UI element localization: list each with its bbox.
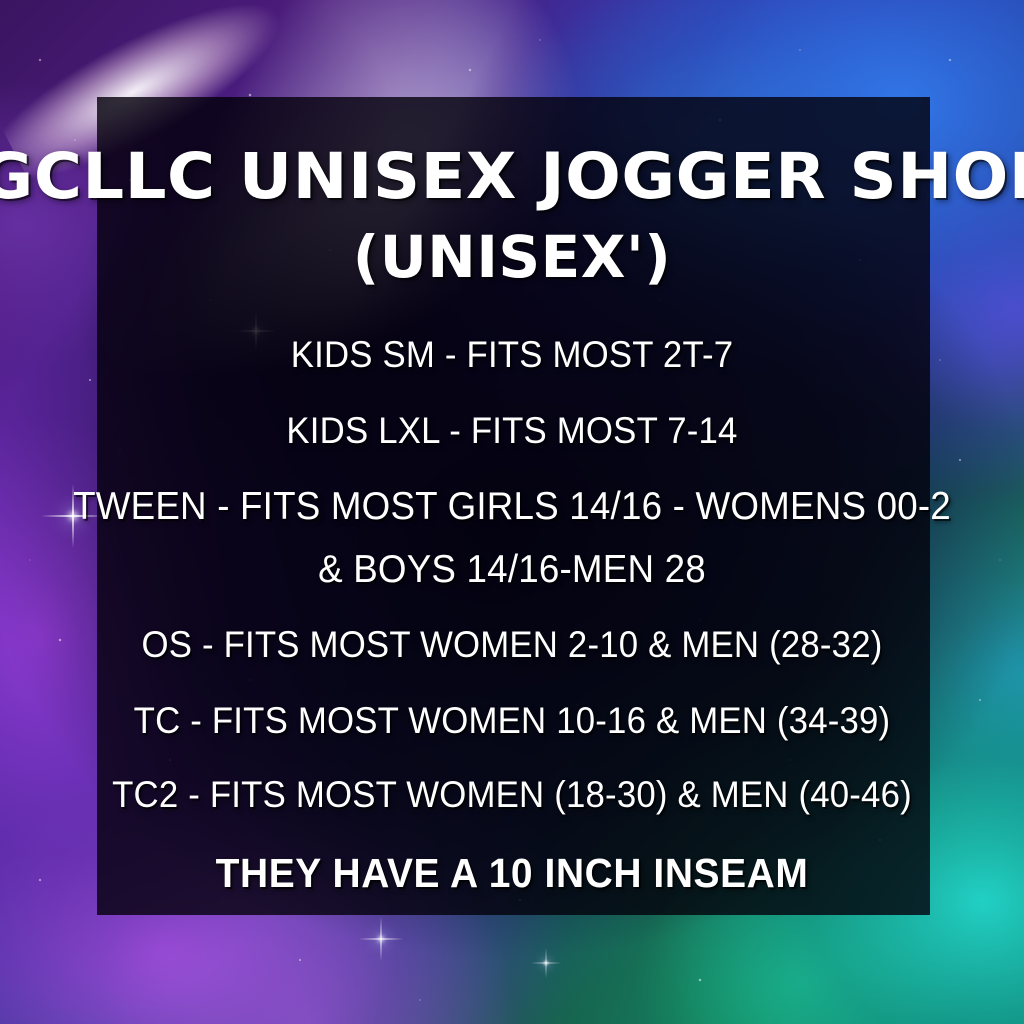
size-row-kids-sm: KIDS SM - FITS MOST 2T-7 [31, 336, 994, 373]
size-row-os: OS - FITS MOST WOMEN 2-10 & MEN (28-32) [31, 626, 994, 663]
page-subtitle: (UNISEX') [0, 228, 1024, 286]
size-chart-poster: GCLLC UNISEX JOGGER SHORTS (UNISEX') KID… [0, 0, 1024, 1024]
page-title: GCLLC UNISEX JOGGER SHORTS [0, 145, 1024, 208]
size-row-tween-part1: TWEEN - FITS MOST GIRLS 14/16 - WOMENS 0… [23, 488, 1001, 527]
size-row-tween-part2: & BOYS 14/16-MEN 28 [23, 551, 1001, 590]
inseam-note: THEY HAVE A 10 INCH INSEAM [26, 853, 999, 894]
size-row-tc: TC - FITS MOST WOMEN 10-16 & MEN (34-39) [31, 702, 994, 739]
poster-content: GCLLC UNISEX JOGGER SHORTS (UNISEX') KID… [0, 0, 1024, 1024]
size-row-tc2: TC2 - FITS MOST WOMEN (18-30) & MEN (40-… [31, 776, 994, 813]
size-row-kids-lxl: KIDS LXL - FITS MOST 7-14 [31, 412, 994, 449]
